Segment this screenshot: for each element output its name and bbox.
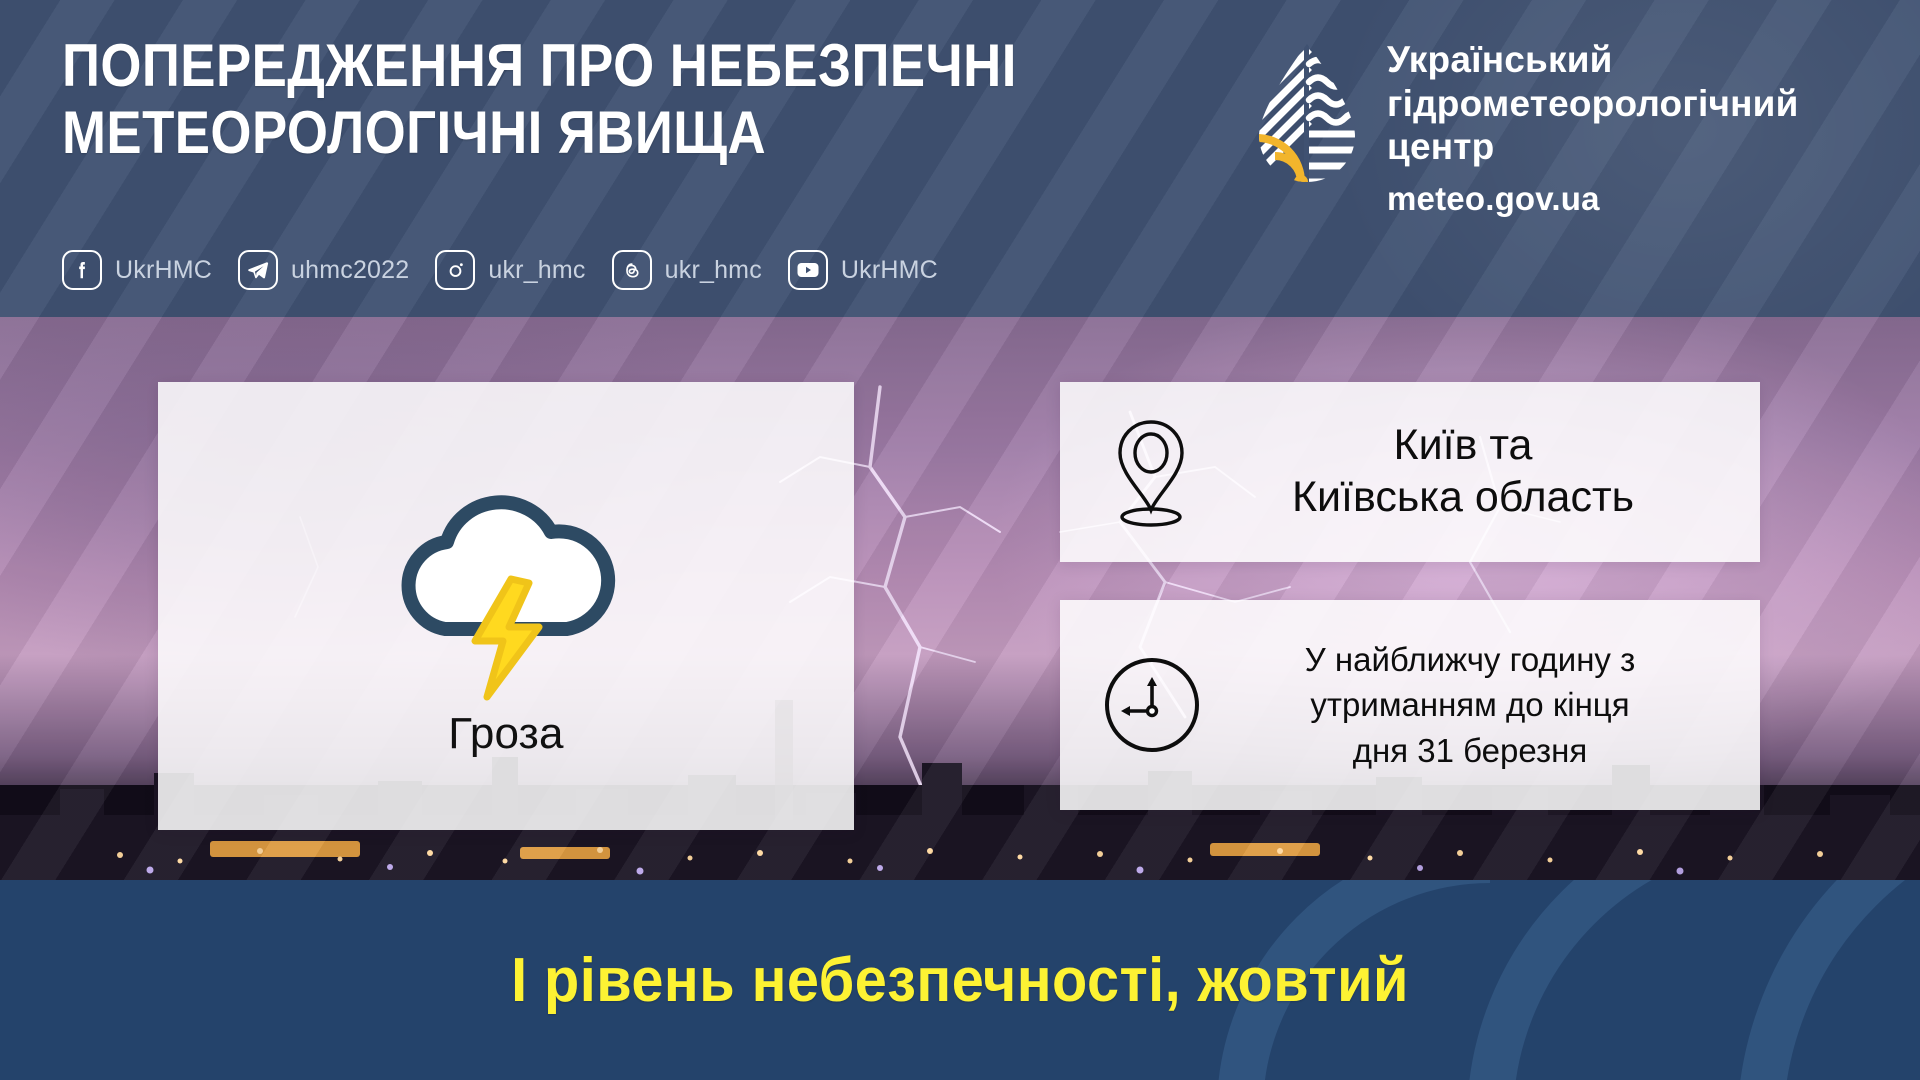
- youtube-handle: UkrHMC: [841, 256, 938, 285]
- thunderstorm-icon: [371, 453, 641, 703]
- phenomenon-label: Гроза: [448, 709, 563, 759]
- threads-icon: [612, 250, 652, 290]
- telegram-icon: [238, 250, 278, 290]
- clock-icon: [1100, 653, 1204, 757]
- location-text: Київ та Київська область: [1194, 420, 1760, 523]
- website-url[interactable]: meteo.gov.ua: [1387, 180, 1799, 218]
- social-link-telegram[interactable]: uhmc2022: [238, 250, 409, 290]
- organization-name: Український гідрометеорологічний центр: [1387, 38, 1799, 169]
- social-link-facebook[interactable]: UkrHMC: [62, 250, 212, 290]
- telegram-handle: uhmc2022: [291, 256, 409, 285]
- facebook-handle: UkrHMC: [115, 256, 212, 285]
- ukrhmc-logo-icon: [1255, 42, 1359, 182]
- social-link-youtube[interactable]: UkrHMC: [788, 250, 938, 290]
- organization-logo-block: Український гідрометеорологічний центр m…: [1255, 38, 1799, 218]
- threads-handle: ukr_hmc: [665, 256, 762, 285]
- youtube-icon: [788, 250, 828, 290]
- instagram-icon: [435, 250, 475, 290]
- instagram-handle: ukr_hmc: [488, 256, 585, 285]
- location-card: Київ та Київська область: [1060, 382, 1760, 562]
- phenomenon-card: Гроза: [158, 382, 854, 830]
- page-title: ПОПЕРЕДЖЕННЯ ПРО НЕБЕЗПЕЧНІ МЕТЕОРОЛОГІЧ…: [62, 32, 1048, 166]
- map-pin-icon: [1108, 416, 1194, 528]
- danger-level-banner: I рівень небезпечності, жовтий: [0, 880, 1920, 1080]
- header-banner: ПОПЕРЕДЖЕННЯ ПРО НЕБЕЗПЕЧНІ МЕТЕОРОЛОГІЧ…: [0, 0, 1920, 317]
- facebook-icon: [62, 250, 102, 290]
- danger-level-text: I рівень небезпечності, жовтий: [67, 880, 1853, 1080]
- timing-text: У найближчу годину з утриманням до кінця…: [1204, 637, 1760, 774]
- social-links-bar: UkrHMC uhmc2022 ukr_hmc ukr_h: [62, 250, 964, 290]
- timing-card: У найближчу годину з утриманням до кінця…: [1060, 600, 1760, 810]
- social-link-threads[interactable]: ukr_hmc: [612, 250, 762, 290]
- social-link-instagram[interactable]: ukr_hmc: [435, 250, 585, 290]
